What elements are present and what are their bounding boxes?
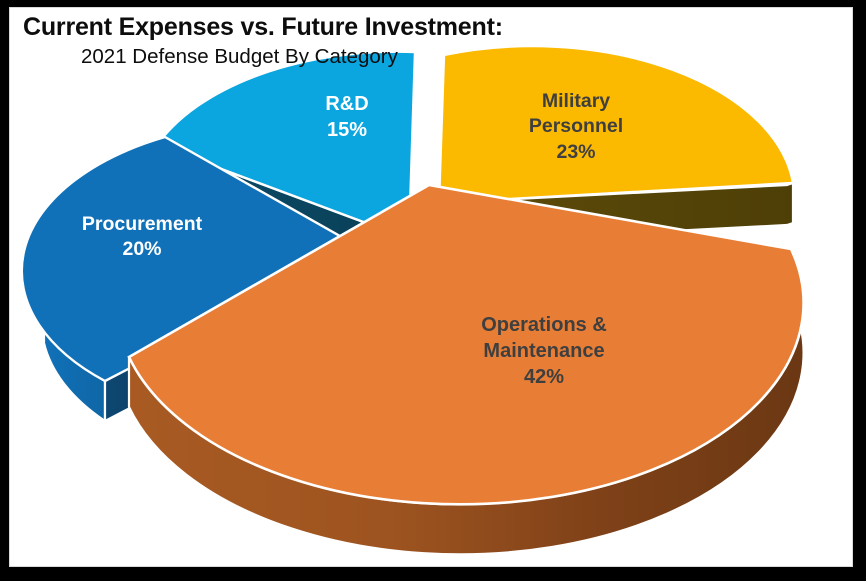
chart-subtitle: 2021 Defense Budget By Category <box>9 42 853 69</box>
chart-canvas: Current Expenses vs. Future Investment: … <box>9 7 853 567</box>
page-title: Current Expenses vs. Future Investment: <box>9 13 853 42</box>
pie-chart-graphic <box>9 7 853 567</box>
slide-frame: Current Expenses vs. Future Investment: … <box>0 0 866 581</box>
title-block: Current Expenses vs. Future Investment: … <box>9 7 853 68</box>
pie-slice-military-top <box>439 46 793 203</box>
